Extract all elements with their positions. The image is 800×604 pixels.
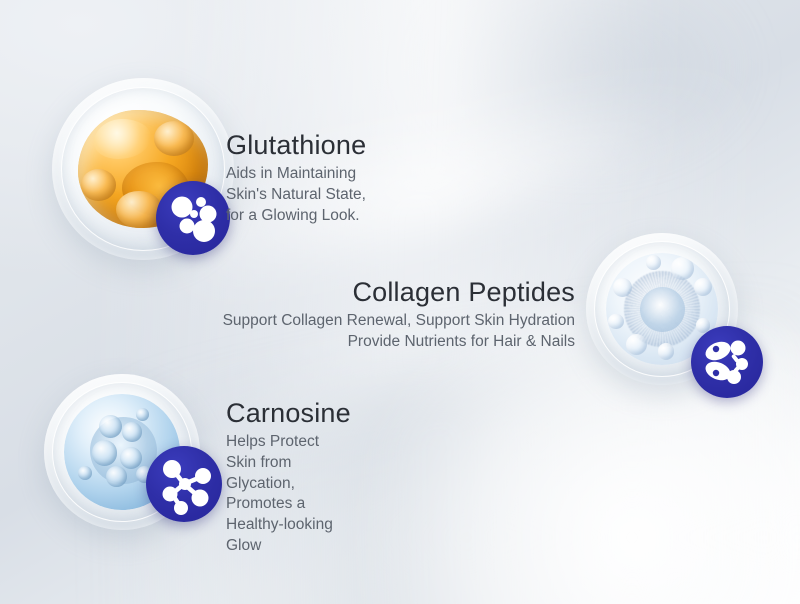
carnosine-badge[interactable] [146, 446, 222, 522]
amber-gel-droplet [154, 121, 194, 156]
collagen-badge[interactable] [691, 326, 763, 398]
gel-cell [106, 466, 127, 487]
gel-bubble [613, 278, 632, 297]
amber-gel-droplet [116, 191, 162, 229]
bubbles-icon [156, 181, 230, 255]
molecule-node-icon [146, 446, 222, 522]
glutathione-title: Glutathione [226, 131, 366, 161]
glutathione-description: Aids in Maintaining Skin's Natural State… [226, 164, 366, 227]
gel-cell [136, 408, 149, 421]
gel-cell [99, 415, 122, 438]
collagen-description: Support Collagen Renewal, Support Skin H… [105, 311, 575, 353]
gel-swirl-core [640, 287, 685, 332]
glutathione-badge[interactable] [156, 181, 230, 255]
gel-cell [120, 447, 142, 469]
collagen-title: Collagen Peptides [105, 278, 575, 308]
gel-cell [92, 440, 117, 465]
gel-bubble [608, 314, 624, 330]
gel-cell [122, 422, 142, 442]
gel-bubble [646, 255, 661, 270]
peptide-molecule-icon [691, 326, 763, 398]
glutathione-text-block: Glutathione Aids in Maintaining Skin's N… [226, 131, 366, 226]
gel-bubble [658, 343, 675, 360]
gel-bubble [671, 257, 694, 280]
carnosine-text-block: Carnosine Helps Protect Skin from Glycat… [226, 399, 351, 557]
carnosine-description: Helps Protect Skin from Glycation, Promo… [226, 432, 351, 558]
ingredient-infographic: Glutathione Aids in Maintaining Skin's N… [0, 0, 800, 604]
collagen-text-block: Collagen Peptides Support Collagen Renew… [105, 278, 575, 353]
gel-bubble [694, 278, 712, 296]
carnosine-title: Carnosine [226, 399, 351, 429]
gel-cell [78, 466, 92, 480]
